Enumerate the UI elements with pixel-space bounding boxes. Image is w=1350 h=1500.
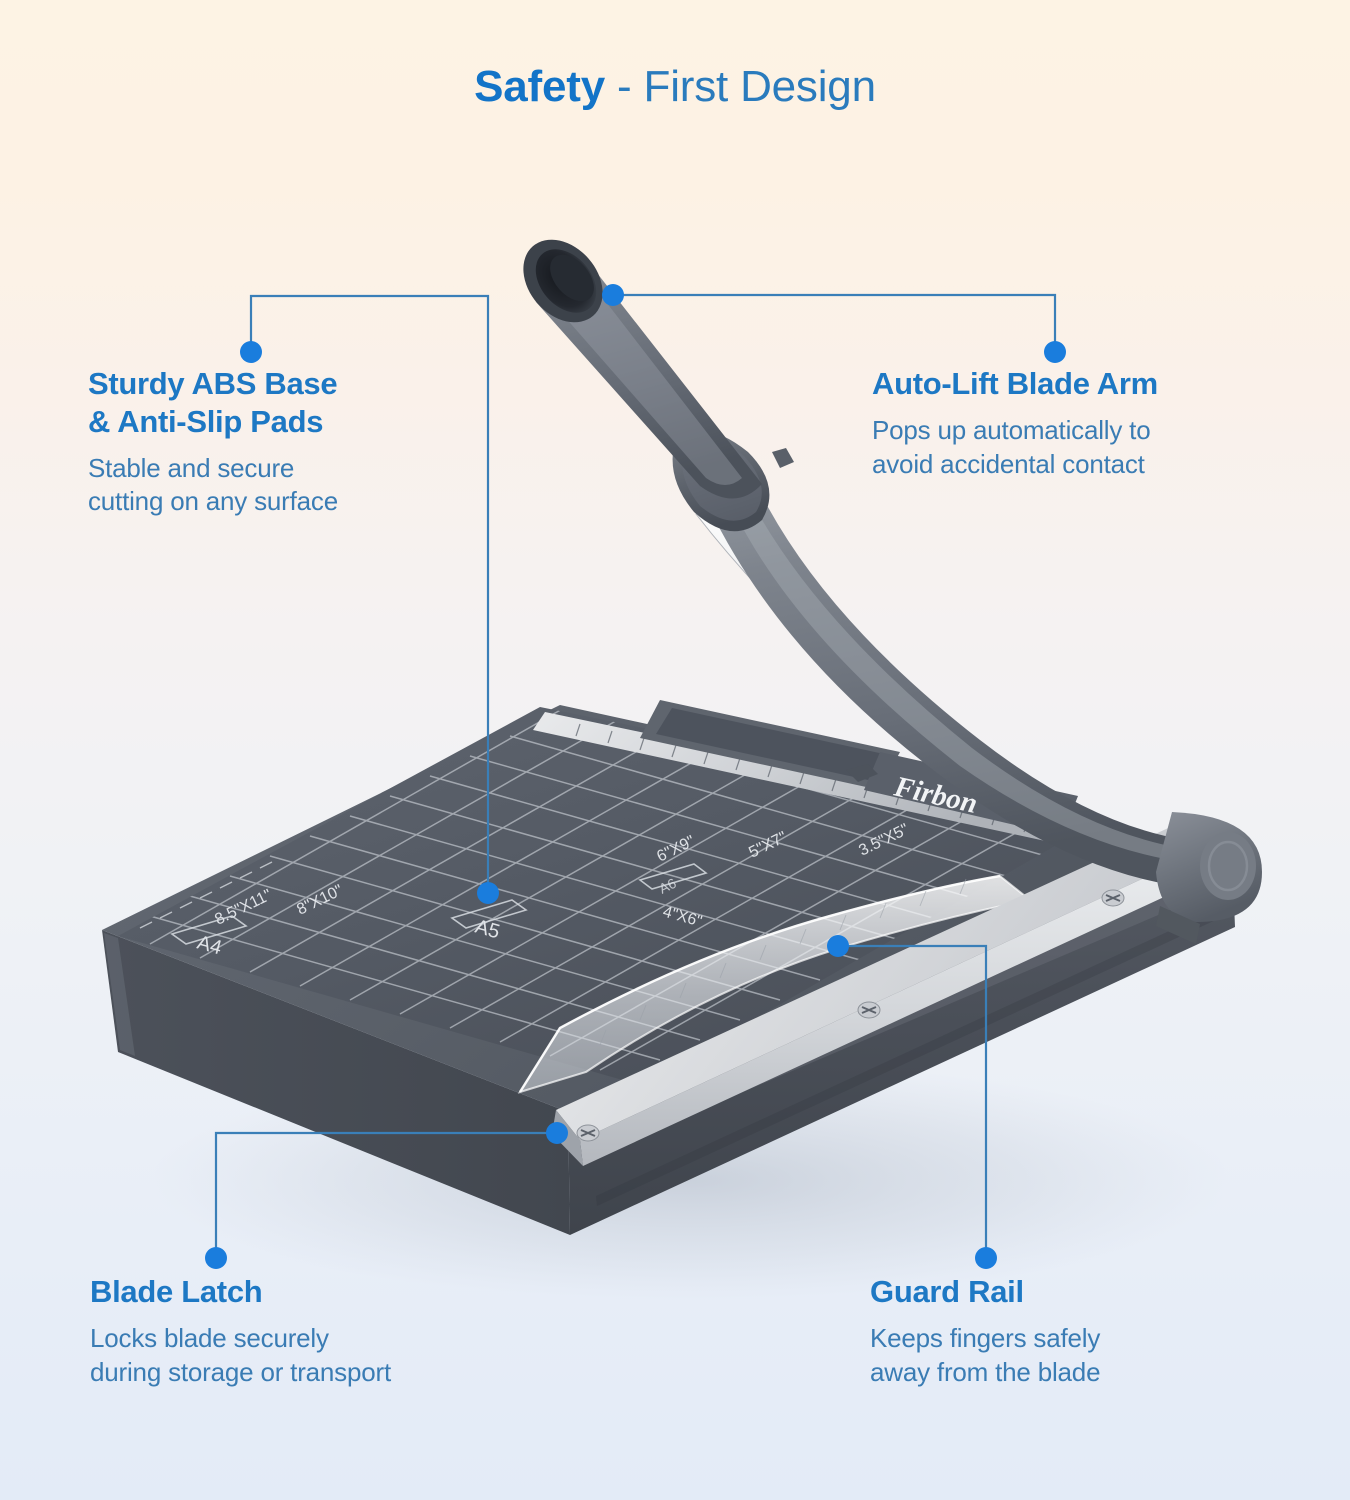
callout-sturdy-abs-base: Sturdy ABS Base & Anti-Slip Pads Stable …	[88, 365, 488, 519]
callout-latch-body: Locks blade securely during storage or t…	[90, 1322, 560, 1390]
callout-guard-body: Keeps fingers safely away from the blade	[870, 1322, 1270, 1390]
infographic-canvas: Safety - First Design	[0, 0, 1350, 1500]
callout-abs-body: Stable and secure cutting on any surface	[88, 452, 488, 520]
callout-guard-heading: Guard Rail	[870, 1273, 1270, 1311]
callout-arm-heading: Auto-Lift Blade Arm	[872, 365, 1292, 403]
callout-blade-latch: Blade Latch Locks blade securely during …	[90, 1273, 560, 1389]
callout-guard-rail: Guard Rail Keeps fingers safely away fro…	[870, 1273, 1270, 1389]
callout-latch-heading: Blade Latch	[90, 1273, 560, 1311]
callout-auto-lift-blade-arm: Auto-Lift Blade Arm Pops up automaticall…	[872, 365, 1292, 481]
callout-arm-body: Pops up automatically to avoid accidenta…	[872, 414, 1292, 482]
handle-tube	[507, 224, 762, 499]
callout-abs-heading: Sturdy ABS Base & Anti-Slip Pads	[88, 365, 488, 441]
